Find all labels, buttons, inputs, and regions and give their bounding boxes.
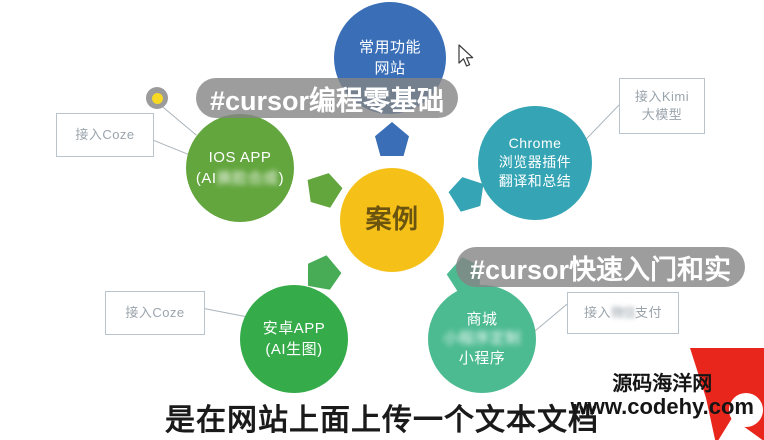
node-line1: Chrome [509, 135, 562, 153]
arrow-upper-left [299, 166, 346, 213]
node-line3: 翻译和总结 [499, 173, 572, 191]
node-line1-text: 商城 [466, 311, 497, 328]
label-text: 接入Coze [75, 126, 134, 144]
arrow-up [375, 122, 409, 156]
node-line2: (AI生图) [265, 340, 322, 359]
site-watermark: 源码海洋网 www.codehy.com [571, 373, 754, 419]
label-text: 接入微信支付 [584, 304, 662, 322]
node-line2-suffix: ) [279, 170, 285, 187]
label-suffix: 支付 [635, 305, 662, 320]
label-box-kimi: 接入Kimi 大模型 [619, 78, 705, 134]
label-text-line1: 接入Kimi [635, 88, 689, 106]
overlay-banner-top: #cursor编程零基础 [196, 78, 458, 118]
screenshot-root: 接入Coze 接入Kimi 大模型 接入Coze 接入微信支付 常用功能 网站 … [0, 0, 764, 440]
node-ios-app: IOS APP (AI换脸合成) [186, 114, 294, 222]
node-line1: 商城小程序定制 [428, 310, 536, 348]
connector-mall-to-wechat [533, 304, 567, 333]
node-android-app: 安卓APP (AI生图) [240, 285, 348, 393]
node-line2-blurred: 换脸合成 [217, 169, 279, 188]
label-box-coze-bottom: 接入Coze [105, 291, 205, 335]
yellow-dot-marker [146, 87, 168, 109]
node-line2: 网站 [374, 59, 405, 78]
label-box-wechat-pay: 接入微信支付 [567, 292, 679, 334]
watermark-site-name: 源码海洋网 [571, 373, 754, 395]
yellow-dot-inner [152, 93, 163, 104]
banner-text: #cursor快速入门和实 [470, 248, 731, 287]
node-chrome-extension: Chrome 浏览器插件 翻译和总结 [478, 106, 592, 220]
node-mall-miniprogram: 商城小程序定制 小程序 [428, 285, 536, 393]
node-line2: (AI换脸合成) [196, 169, 284, 188]
label-prefix: 接入 [584, 305, 611, 320]
label-text-line2: 大模型 [642, 106, 683, 124]
node-line1: IOS APP [209, 148, 272, 167]
watermark-url: www.codehy.com [571, 395, 754, 419]
overlay-banner-bottom: #cursor快速入门和实 [456, 247, 745, 287]
label-box-coze-top: 接入Coze [56, 113, 154, 157]
mouse-pointer-icon [458, 44, 476, 70]
node-line2: 浏览器插件 [499, 154, 572, 172]
label-text: 接入Coze [125, 304, 184, 322]
center-label: 案例 [365, 203, 418, 236]
node-center-case: 案例 [340, 168, 444, 272]
node-line1: 常用功能 [359, 38, 421, 57]
node-line2-prefix: (AI [196, 170, 217, 187]
node-line1: 安卓APP [263, 319, 326, 338]
banner-text: #cursor编程零基础 [210, 79, 444, 118]
label-blurred: 微信 [611, 304, 635, 322]
node-line2: 小程序 [459, 349, 506, 368]
connector-dot-to-ios [159, 104, 196, 136]
node-line1-blurred: 小程序定制 [443, 329, 521, 348]
